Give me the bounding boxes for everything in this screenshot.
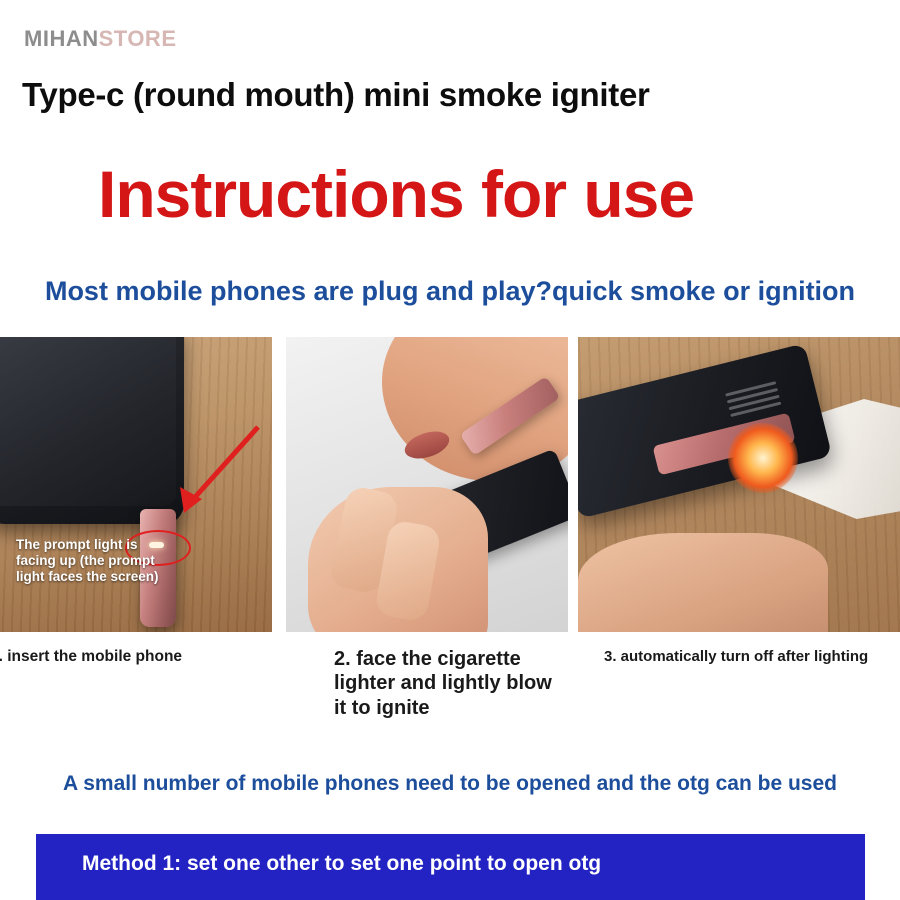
photo-strip: The prompt light is facing up (the promp… — [0, 337, 900, 632]
method-1-label: Method 1: set one other to set one point… — [82, 852, 601, 876]
photo-step-2 — [286, 337, 568, 632]
photo-step-3 — [578, 337, 900, 632]
brand-name-secondary: STORE — [99, 26, 177, 51]
page-title: Type-c (round mouth) mini smoke igniter — [22, 76, 650, 114]
instruction-sheet: MIHANSTORE Type-c (round mouth) mini smo… — [0, 0, 900, 900]
step-2-caption: 2. face the cigarette lighter and lightl… — [334, 647, 564, 720]
step-3-caption: 3. automatically turn off after lighting — [604, 648, 868, 665]
instructions-heading: Instructions for use — [98, 156, 694, 232]
heating-coil-glow — [728, 423, 798, 493]
subheading-plug-and-play: Most mobile phones are plug and play?qui… — [0, 276, 900, 307]
brand-name-primary: MIHAN — [24, 26, 99, 51]
step-1-caption: 1. insert the mobile phone — [0, 648, 182, 666]
photo-1-overlay-caption: The prompt light is facing up (the promp… — [16, 537, 166, 585]
otg-note: A small number of mobile phones need to … — [0, 772, 900, 796]
person-hand — [578, 533, 828, 632]
red-arrow-icon — [154, 421, 264, 529]
phone-screen — [0, 337, 176, 506]
photo-step-1: The prompt light is facing up (the promp… — [0, 337, 272, 632]
method-1-banner: Method 1: set one other to set one point… — [36, 834, 865, 900]
brand-logo: MIHANSTORE — [24, 26, 177, 52]
